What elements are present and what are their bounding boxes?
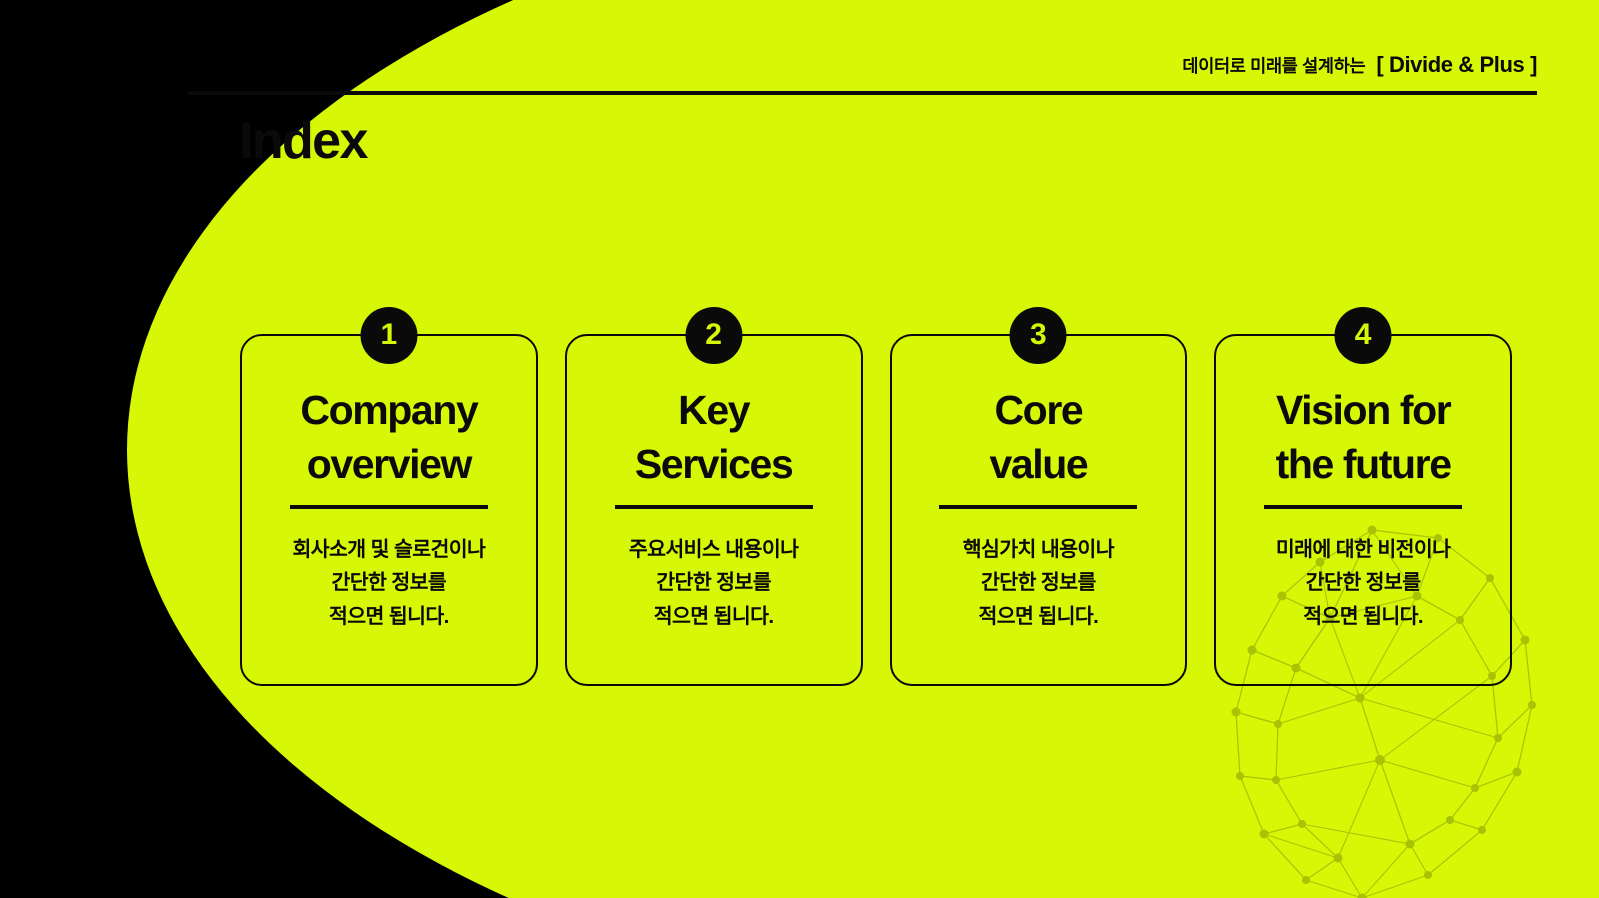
card-number-badge: 3 <box>1010 307 1067 364</box>
card-description: 주요서비스 내용이나 간단한 정보를 적으면 됩니다. <box>629 533 798 633</box>
card-number-badge: 2 <box>685 307 742 364</box>
index-card-2[interactable]: 2 Key Services 주요서비스 내용이나 간단한 정보를 적으면 됩니… <box>565 334 863 686</box>
card-divider <box>939 505 1137 509</box>
header-branding: 데이터로 미래를 설계하는 [ Divide & Plus ] <box>1182 52 1537 78</box>
card-heading: Core value <box>979 383 1097 491</box>
header-tagline: 데이터로 미래를 설계하는 <box>1182 53 1365 78</box>
card-description: 미래에 대한 비전이나 간단한 정보를 적으면 됩니다. <box>1276 533 1451 633</box>
slide-canvas: 데이터로 미래를 설계하는 [ Divide & Plus ] Index 1 … <box>0 0 1599 898</box>
card-number-badge: 1 <box>360 307 417 364</box>
card-divider <box>615 505 813 509</box>
card-divider <box>1264 505 1462 509</box>
card-heading: Key Services <box>625 383 803 491</box>
page-title: Index <box>239 110 367 172</box>
index-card-1[interactable]: 1 Company overview 회사소개 및 슬로건이나 간단한 정보를 … <box>240 334 538 686</box>
card-heading: Vision for the future <box>1266 383 1461 491</box>
card-divider <box>290 505 488 509</box>
card-heading: Company overview <box>290 383 487 491</box>
card-description: 회사소개 및 슬로건이나 간단한 정보를 적으면 됩니다. <box>292 533 485 633</box>
card-number-badge: 4 <box>1335 307 1392 364</box>
index-card-3[interactable]: 3 Core value 핵심가치 내용이나 간단한 정보를 적으면 됩니다. <box>890 334 1188 686</box>
header-brand: [ Divide & Plus ] <box>1376 52 1537 78</box>
index-card-4[interactable]: 4 Vision for the future 미래에 대한 비전이나 간단한 … <box>1214 334 1512 686</box>
index-card-list: 1 Company overview 회사소개 및 슬로건이나 간단한 정보를 … <box>240 334 1512 686</box>
card-description: 핵심가치 내용이나 간단한 정보를 적으면 됩니다. <box>963 533 1114 633</box>
header-divider <box>188 91 1537 95</box>
